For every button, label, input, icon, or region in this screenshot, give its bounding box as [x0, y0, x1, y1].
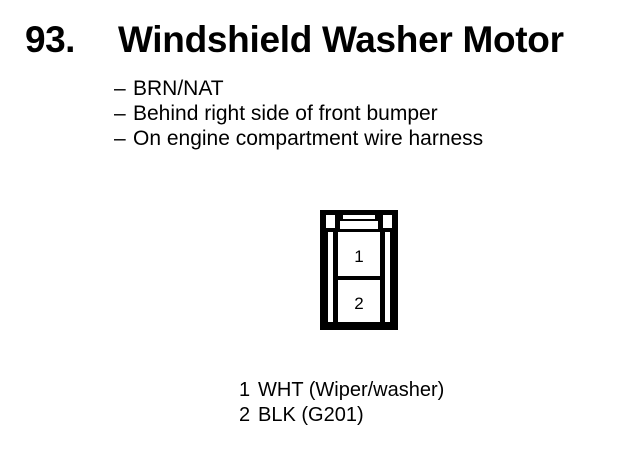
legend-number: 2 — [239, 403, 258, 428]
latch-notch-left — [326, 215, 335, 228]
cavity-2-label: 2 — [354, 294, 363, 313]
connector-svg: 1 2 — [320, 210, 400, 332]
legend-row: 2 BLK (G201) — [239, 403, 619, 428]
note-text: On engine compartment wire harness — [133, 126, 483, 151]
note-line: – BRN/NAT — [114, 76, 614, 101]
notes-list: – BRN/NAT – Behind right side of front b… — [114, 76, 614, 151]
dash-icon: – — [114, 126, 133, 151]
legend-description: WHT (Wiper/washer) — [258, 378, 444, 403]
note-line: – Behind right side of front bumper — [114, 101, 614, 126]
page-header: 93. Windshield Washer Motor — [0, 18, 640, 64]
item-number: 93. — [25, 18, 75, 62]
dash-icon: – — [114, 101, 133, 126]
note-text: Behind right side of front bumper — [133, 101, 438, 126]
legend-row: 1 WHT (Wiper/washer) — [239, 378, 619, 403]
legend-description: BLK (G201) — [258, 403, 364, 428]
connector-diagram: 1 2 — [320, 210, 400, 330]
side-channel-left — [328, 232, 333, 322]
terminal-legend: 1 WHT (Wiper/washer) 2 BLK (G201) — [239, 378, 619, 428]
dash-icon: – — [114, 76, 133, 101]
latch-notch-right — [383, 215, 392, 228]
legend-number: 1 — [239, 378, 258, 403]
note-line: – On engine compartment wire harness — [114, 126, 614, 151]
page-title: Windshield Washer Motor — [118, 18, 564, 62]
cavity-1-label: 1 — [354, 247, 363, 266]
latch-slot-outer — [340, 221, 378, 229]
latch-bar — [343, 215, 375, 219]
side-channel-right — [385, 232, 390, 322]
note-text: BRN/NAT — [133, 76, 224, 101]
